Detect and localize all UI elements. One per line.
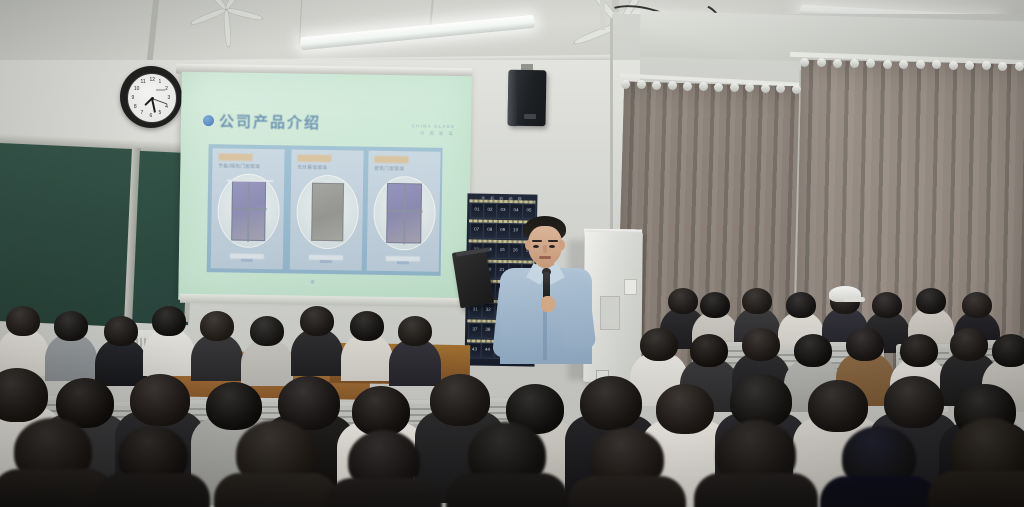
- slide-logo: CHINA GLASS 中 国 玻 璃: [403, 123, 455, 137]
- audience-member-head: [700, 292, 730, 318]
- clock-numeral: 2: [165, 87, 168, 92]
- pocket-chart-cell: 07: [470, 222, 484, 238]
- foreground-shoulders: [326, 478, 442, 507]
- curtain-grommet: [1015, 62, 1024, 71]
- audience-member-head: [900, 334, 938, 367]
- blue-circle-bullet-icon: [203, 115, 214, 126]
- pocket-chart-cell: 01: [470, 202, 484, 218]
- audience-member-head: [846, 328, 884, 361]
- product-panel-2: [311, 183, 344, 241]
- curtain-grommet: [668, 81, 677, 90]
- curtain-grommet: [683, 82, 692, 91]
- presenter-eyebrow: [548, 240, 558, 242]
- panel-tag: [218, 153, 252, 161]
- product-window-3: [386, 183, 422, 244]
- presenter-eyebrow: [532, 240, 542, 242]
- pocket-chart-cell: 02: [483, 203, 497, 219]
- product-window-1: [231, 181, 266, 242]
- pocket-chart-number: 08: [484, 227, 496, 232]
- speaker-badge: [524, 114, 536, 119]
- curtain-grommet: [621, 80, 630, 89]
- audience-member-head: [580, 376, 642, 430]
- slide-title: 公司产品介绍: [219, 110, 321, 133]
- presenter-ear: [525, 240, 531, 250]
- audience: [0, 250, 1024, 507]
- panel-tag: [374, 156, 408, 164]
- curtain-grommet: [949, 61, 958, 70]
- panel-tag: [297, 155, 331, 163]
- audience-member-head: [742, 288, 772, 314]
- pocket-chart-number: 02: [484, 207, 496, 212]
- panel-subtitle: 光伏幕墙玻璃: [297, 165, 327, 171]
- audience-member-head: [742, 328, 780, 361]
- pocket-chart-number: 01: [471, 206, 483, 211]
- clock-numeral: 1: [159, 80, 162, 85]
- curtain-grommet: [883, 60, 892, 69]
- speaker-bevel: [508, 70, 518, 126]
- presenter-eye: [549, 245, 555, 248]
- slide-logo-line2: 中 国 玻 璃: [403, 130, 455, 137]
- slide-logo-line1: CHINA GLASS: [403, 123, 455, 129]
- fan-blade: [225, 7, 263, 22]
- clock-numeral: 3: [168, 96, 171, 101]
- curtain-grommet: [916, 60, 925, 69]
- clock-numeral: 12: [150, 78, 156, 83]
- clock-numeral: 6: [150, 114, 153, 119]
- pocket-chart-cell: 08: [483, 223, 497, 239]
- clock-numeral: 5: [159, 111, 162, 116]
- audience-member-head: [668, 288, 698, 314]
- curtain-grommet: [899, 60, 908, 69]
- audience-member-head: [872, 292, 902, 318]
- clock-face: 121234567891011: [127, 73, 177, 123]
- foreground-shoulders: [694, 473, 818, 507]
- foreground-shoulders: [446, 473, 568, 507]
- audience-member-head: [656, 384, 714, 434]
- panel-subtitle: 节能/隔热门窗玻璃: [218, 163, 260, 170]
- curtain-grommet: [699, 82, 708, 91]
- curtain-grommet: [652, 81, 661, 90]
- clock-numeral: 4: [165, 105, 168, 110]
- classroom-photo: 121234567891011 公司产品介绍 CHINA GLASS 中 国 玻…: [0, 0, 1024, 507]
- foreground-shoulders: [928, 471, 1024, 507]
- audience-member-head: [786, 292, 816, 318]
- pocket-chart-number: 05: [523, 207, 535, 212]
- audience-member-head: [808, 380, 868, 432]
- clock-brand-mark: [156, 89, 165, 91]
- curtain-grommet: [965, 61, 974, 70]
- curtain-grommet: [792, 85, 801, 94]
- curtain-grommet: [982, 61, 991, 70]
- curtain-grommet: [761, 84, 770, 93]
- foreground-shoulders: [820, 476, 938, 507]
- ceiling-fan: [183, 0, 269, 30]
- audience-member-head: [794, 334, 832, 367]
- clock-numeral: 8: [134, 105, 137, 110]
- clock-numeral: 9: [132, 96, 135, 101]
- audience-member-head: [0, 368, 48, 422]
- curtain-grommet: [730, 83, 739, 92]
- clock-numeral: 11: [141, 80, 146, 85]
- curtain-grommet: [998, 62, 1007, 71]
- clock-center-pin: [151, 97, 154, 100]
- audience-member-head: [992, 334, 1024, 367]
- audience-member-head: [300, 306, 334, 336]
- presenter-ear: [559, 240, 565, 250]
- audience-member-head: [130, 374, 190, 426]
- audience-member-head: [54, 311, 88, 341]
- audience-member-head: [398, 316, 432, 346]
- audience-member-head: [6, 306, 40, 336]
- curtain-grommet: [637, 80, 646, 89]
- audience-member-head: [640, 328, 678, 361]
- audience-member-head: [950, 328, 988, 361]
- audience-member-head: [206, 382, 262, 430]
- audience-member-head: [350, 311, 384, 341]
- fan-blade: [190, 7, 227, 27]
- panel-subtitle: 建筑门窗玻璃: [374, 166, 404, 172]
- audience-member-head: [430, 374, 490, 426]
- pocket-chart-number: 07: [471, 226, 483, 231]
- presenter-eye: [533, 245, 539, 248]
- audience-member-head: [690, 334, 728, 367]
- audience-member-head: [152, 306, 186, 336]
- foreground-shoulders: [568, 476, 686, 507]
- curtain-grommet: [833, 59, 842, 68]
- fan-blade: [199, 0, 228, 11]
- audience-member-head: [104, 316, 138, 346]
- clock-numeral: 7: [141, 111, 144, 116]
- audience-member-head: [250, 316, 284, 346]
- audience-member-head: [352, 386, 410, 436]
- curtain-grommet: [800, 58, 809, 67]
- clock-numeral: 10: [134, 87, 140, 92]
- pocket-chart-number: 04: [510, 207, 522, 212]
- audience-member-head: [916, 288, 946, 314]
- audience-member-head: [200, 311, 234, 341]
- curtain-grommet: [817, 58, 826, 67]
- cap-brim: [844, 297, 865, 302]
- curtain-grommet: [850, 59, 859, 68]
- audience-member-head: [962, 292, 992, 318]
- pocket-chart-number: 03: [497, 207, 509, 212]
- foreground-shoulders: [214, 473, 338, 507]
- foreground-shoulders: [96, 473, 210, 507]
- curtain-grommet: [714, 83, 723, 92]
- audience-member-head: [884, 376, 944, 428]
